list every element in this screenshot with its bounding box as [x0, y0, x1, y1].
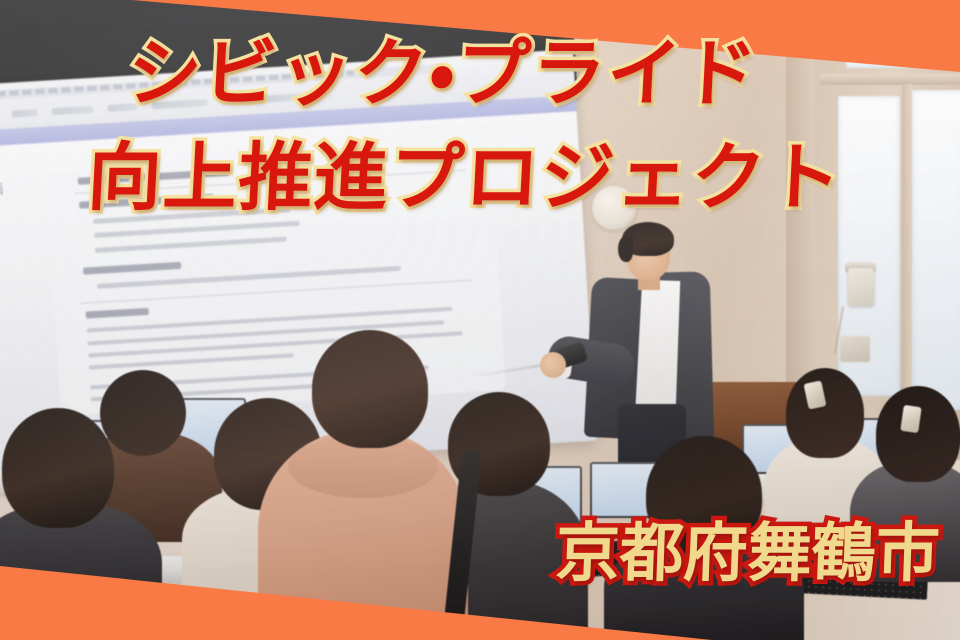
student-head — [786, 368, 864, 458]
bookmark-item — [151, 99, 207, 109]
bookmark-item — [51, 105, 93, 114]
section-heading-new-total — [79, 194, 213, 209]
bookmark-item — [12, 109, 38, 118]
bullet-line — [94, 221, 299, 238]
door-glass-right — [912, 90, 960, 410]
student-body — [604, 542, 804, 640]
student-head — [2, 408, 114, 528]
bullet-line — [95, 236, 287, 252]
presenter-hand — [540, 352, 566, 378]
transom-window — [846, 22, 934, 68]
section-heading-total — [83, 262, 181, 275]
section-heading-summary — [86, 308, 149, 319]
door-rail — [820, 74, 960, 85]
card-heading — [78, 169, 230, 185]
answer-card — [46, 146, 506, 416]
bookmark-item — [221, 96, 245, 104]
paragraph-line — [89, 353, 294, 369]
student-head — [100, 370, 186, 456]
bookmark-item — [107, 103, 137, 112]
bullet-line — [94, 207, 290, 224]
door-mullion — [902, 84, 912, 414]
phone-wall-box — [840, 336, 870, 362]
wall-clock-icon — [592, 186, 636, 230]
wall-phone — [848, 268, 874, 306]
hair-clip — [900, 405, 921, 433]
bookmark-item — [259, 93, 305, 103]
banner-canvas: の計画 — [0, 0, 960, 640]
card-rule — [74, 169, 466, 193]
foreground-student-head — [312, 330, 428, 448]
student-head — [646, 436, 762, 554]
presenter-hair-side — [618, 236, 633, 262]
student-head — [876, 386, 960, 482]
classroom-photo: の計画 — [0, 0, 960, 640]
